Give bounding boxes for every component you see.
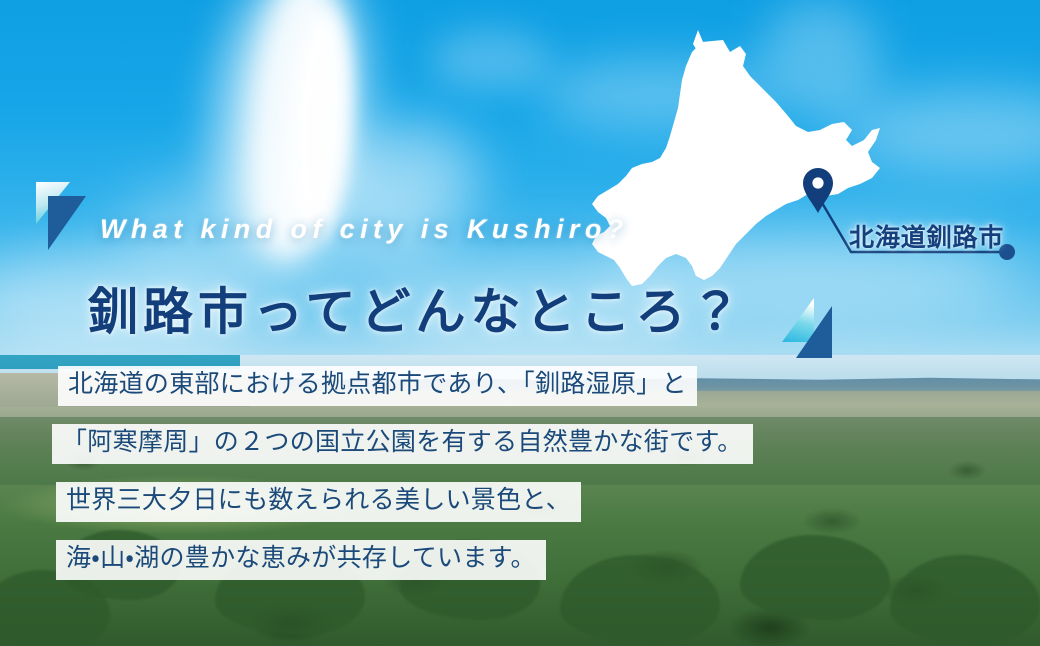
page-title: 釧路市ってどんなところ？ (88, 272, 746, 344)
description-block: 北海道の東部における拠点都市であり、「釧路湿原」と 「阿寒摩周」の２つの国立公園… (0, 366, 1040, 598)
description-line: 世界三大夕日にも数えられる美しい景色と、 (56, 482, 581, 522)
description-line: 海・山・湖の豊かな恵みが共存しています。 (56, 540, 546, 580)
page-subtitle-english: What kind of city is Kushiro? (100, 214, 629, 245)
chevron-flag-mark-left-icon (36, 180, 88, 252)
description-line: 北海道の東部における拠点都市であり、「釧路湿原」と (58, 366, 697, 406)
description-line: 「阿寒摩周」の２つの国立公園を有する自然豊かな街です。 (52, 424, 753, 464)
hero-banner: 北海道釧路市 (0, 0, 1040, 646)
map-pin-label: 北海道釧路市 (849, 218, 1004, 254)
map-pin-icon (803, 168, 833, 213)
chevron-flag-mark-right-icon (780, 298, 836, 360)
